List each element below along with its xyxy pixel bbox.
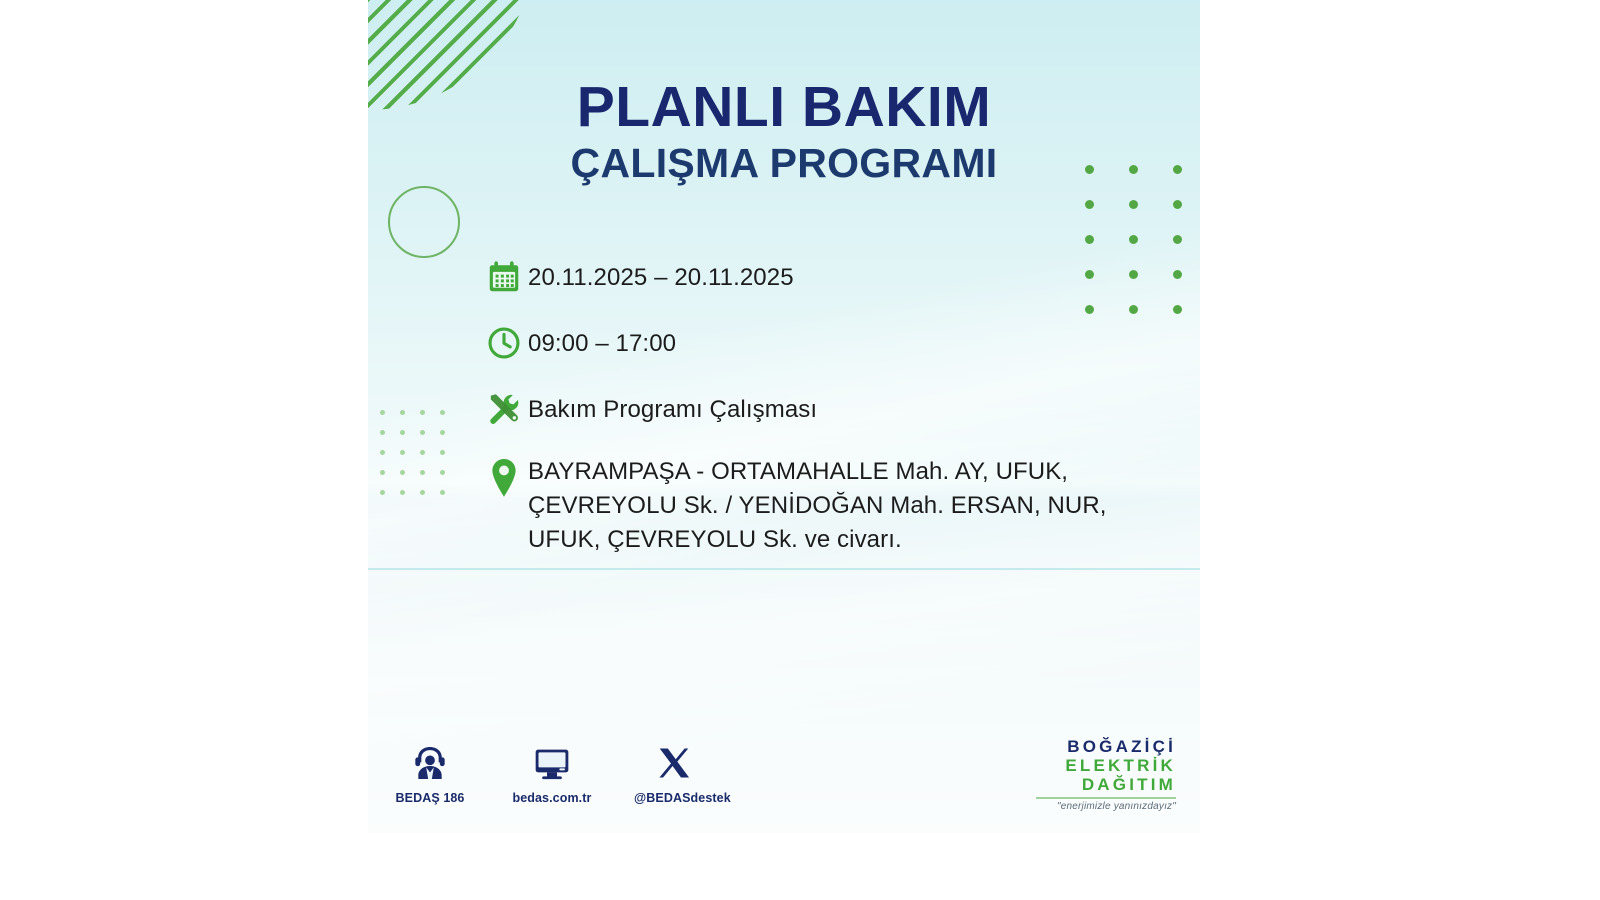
maintenance-work-type: Bakım Programı Çalışması — [528, 387, 817, 426]
contact-call-center[interactable]: BEDAŞ 186 — [390, 735, 470, 805]
logo-line-dagitim: DAĞITIM — [1026, 775, 1176, 794]
contact-call-center-label: BEDAŞ 186 — [390, 791, 470, 805]
location-line-1: BAYRAMPAŞA - ORTAMAHALLE Mah. AY, UFUK, — [528, 458, 1068, 485]
contact-website[interactable]: bedas.com.tr — [512, 735, 592, 805]
logo-line-bogazici: BOĞAZİÇİ — [1026, 737, 1176, 756]
contact-social-x-label: @BEDASdestek — [634, 791, 714, 805]
location-line-3: UFUK, ÇEVREYOLU Sk. ve civarı. — [528, 526, 902, 553]
contact-social-x[interactable]: @BEDASdestek — [634, 735, 714, 805]
monitor-icon — [512, 735, 592, 783]
bedas-logo: BOĞAZİÇİ ELEKTRİK DAĞITIM "enerjimizle y… — [1026, 737, 1176, 812]
headset-support-icon — [390, 735, 470, 783]
maintenance-time-range: 09:00 – 17:00 — [528, 321, 676, 360]
x-twitter-icon — [634, 735, 714, 783]
background-band — [368, 568, 1200, 570]
detail-row-time: 09:00 – 17:00 — [480, 321, 1170, 365]
maintenance-details: 20.11.2025 – 20.11.2025 09:00 – 17:00 — [480, 255, 1170, 557]
logo-divider — [1036, 797, 1176, 799]
logo-tagline: "enerjimizle yanınızdayız" — [1026, 801, 1176, 812]
maintenance-location: BAYRAMPAŞA - ORTAMAHALLE Mah. AY, UFUK, … — [528, 453, 1107, 557]
poster-footer: BEDAŞ 186 bedas.com.tr — [368, 735, 1200, 833]
detail-row-work-type: Bakım Programı Çalışması — [480, 387, 1170, 431]
planned-maintenance-poster: PLANLI BAKIM ÇALIŞMA PROGRAMI — [368, 0, 1200, 833]
location-line-2: ÇEVREYOLU Sk. / YENİDOĞAN Mah. ERSAN, NU… — [528, 492, 1107, 519]
detail-row-location: BAYRAMPAŞA - ORTAMAHALLE Mah. AY, UFUK, … — [480, 453, 1170, 557]
screenshot-root: PLANLI BAKIM ÇALIŞMA PROGRAMI — [0, 0, 1600, 900]
tools-icon — [480, 387, 528, 431]
clock-icon — [480, 321, 528, 365]
location-pin-icon — [480, 453, 528, 501]
logo-line-elektrik: ELEKTRİK — [1026, 756, 1176, 775]
maintenance-date-range: 20.11.2025 – 20.11.2025 — [528, 255, 794, 294]
contact-website-label: bedas.com.tr — [512, 791, 592, 805]
calendar-icon — [480, 255, 528, 299]
dot-grid-left-decoration — [380, 410, 460, 510]
poster-heading: PLANLI BAKIM ÇALIŞMA PROGRAMI — [368, 78, 1200, 185]
circle-outline-decoration — [388, 186, 460, 258]
page-subtitle: ÇALIŞMA PROGRAMI — [368, 142, 1200, 185]
page-title: PLANLI BAKIM — [368, 78, 1200, 136]
contact-channels: BEDAŞ 186 bedas.com.tr — [390, 735, 714, 805]
detail-row-date: 20.11.2025 – 20.11.2025 — [480, 255, 1170, 299]
